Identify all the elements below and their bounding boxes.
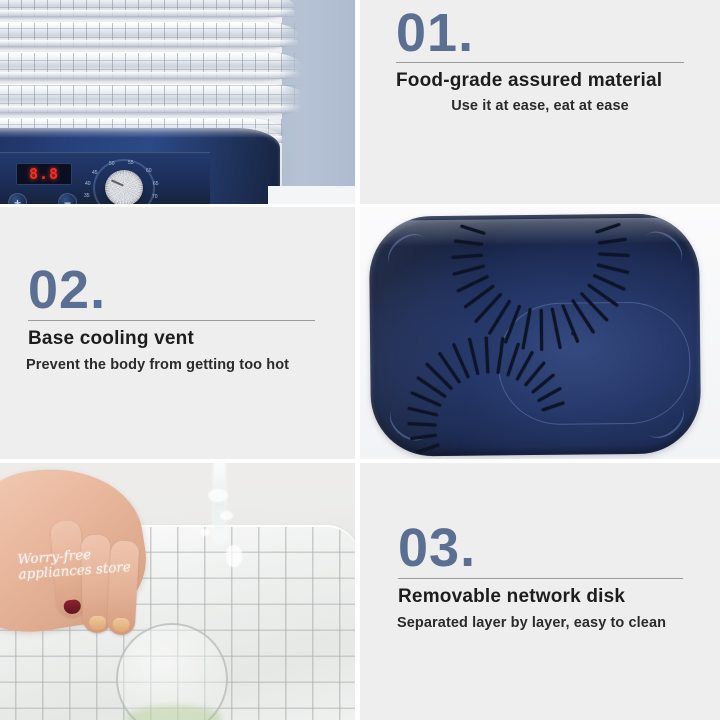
feature-subtitle: Prevent the body from getting too hot: [26, 357, 289, 373]
fingernail: [89, 616, 106, 630]
dial-tick-label: 35: [84, 193, 90, 199]
divider-rule: [396, 62, 684, 63]
photo-dehydrator-trays: 8.8 + − 35 40 45 50 55 60 65 70: [0, 0, 355, 204]
fingernail: [112, 618, 130, 633]
temperature-dial[interactable]: 35 40 45 50 55 60 65 70: [93, 159, 155, 204]
product-infographic: 8.8 + − 35 40 45 50 55 60 65 70: [0, 0, 720, 720]
divider-rule: [398, 578, 683, 579]
photo-base-cooling-vent: [360, 207, 720, 459]
photo-right-gradient: [279, 0, 355, 204]
tray-layer: [0, 52, 302, 80]
feature-title: Removable network disk: [398, 586, 625, 608]
decrease-button[interactable]: −: [58, 193, 77, 204]
tray-rim: [0, 106, 306, 113]
photo-removable-network-disk: Worry-free appliances store: [0, 463, 355, 720]
dial-tick-label: 60: [146, 168, 152, 174]
water-stream: [214, 463, 225, 543]
feature-panel-02: 02. Base cooling vent Prevent the body f…: [0, 207, 355, 459]
vent-slot: [597, 263, 630, 274]
divider-rule: [28, 320, 315, 321]
water-splash: [226, 545, 242, 567]
tray-center-tint: [126, 705, 222, 720]
body-highlight: [0, 128, 280, 138]
finger: [107, 540, 140, 635]
water-splash: [200, 529, 210, 536]
tray-layer: [0, 84, 306, 114]
tray-rim: [0, 10, 294, 17]
control-panel: 8.8 + − 35 40 45 50 55 60 65 70: [0, 152, 210, 204]
water-splash: [220, 511, 233, 520]
dial-tick-label: 40: [85, 181, 91, 187]
tray-layer: [0, 0, 294, 18]
dial-tick-label: 70: [152, 194, 158, 200]
feature-subtitle: Separated layer by layer, easy to clean: [397, 615, 666, 631]
vent-slot: [598, 252, 629, 257]
vent-slot: [540, 309, 543, 351]
tray-rim: [0, 72, 302, 79]
led-display: 8.8: [16, 163, 72, 185]
led-value: 8.8: [29, 165, 59, 183]
dial-tick-label: 45: [92, 170, 98, 176]
water-splash: [208, 489, 228, 502]
dehydrator-base-underside: [369, 213, 701, 456]
tray-layer: [0, 22, 298, 48]
feature-number: 01.: [396, 6, 474, 60]
tray-rim: [0, 40, 298, 47]
photo-bottom-strip: [268, 186, 355, 204]
dial-tick-label: 50: [109, 161, 115, 167]
feature-panel-03: 03. Removable network disk Separated lay…: [360, 463, 720, 720]
dial-pointer: [111, 179, 123, 186]
fingernail: [63, 599, 81, 614]
feature-title: Base cooling vent: [28, 328, 194, 350]
feature-number: 03.: [398, 521, 476, 575]
dial-tick-label: 65: [153, 181, 159, 187]
increase-button[interactable]: +: [8, 193, 27, 204]
feature-title: Food-grade assured material: [396, 70, 662, 92]
dial-knob[interactable]: [105, 170, 143, 204]
feature-number: 02.: [28, 263, 106, 317]
feature-panel-01: 01. Food-grade assured material Use it a…: [360, 0, 720, 204]
dial-tick-label: 55: [128, 160, 134, 166]
feature-subtitle: Use it at ease, eat at ease: [360, 98, 720, 114]
vent-slot: [593, 274, 626, 291]
